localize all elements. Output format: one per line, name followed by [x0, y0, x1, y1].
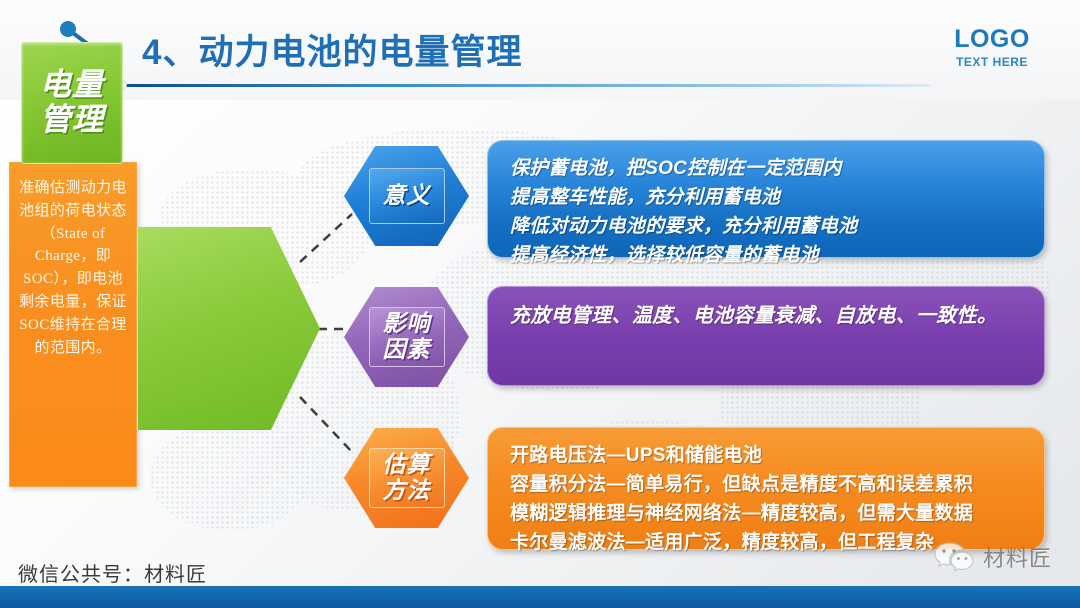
page-title: 4、动力电池的电量管理	[142, 24, 522, 75]
brand-logo-block: LOGO TEXT HERE	[932, 26, 1052, 69]
branch-hexagon-significance-inner: 意义	[369, 168, 445, 224]
content-box-methods: 开路电压法—UPS和储能电池 容量积分法—简单易行，但缺点是精度不高和误差累积 …	[487, 427, 1045, 550]
content-box-factors: 充放电管理、温度、电池容量衰减、自放电、一致性。	[487, 286, 1045, 386]
definition-panel: 准确估测动力电池组的荷电状态（State of Charge，即SOC），即电池…	[9, 162, 137, 487]
branch-label-significance: 意义	[383, 183, 431, 209]
brand-logo-text: LOGO	[932, 26, 1052, 52]
content-box-significance: 保护蓄电池，把SOC控制在一定范围内 提高整车性能，充分利用蓄电池 降低对动力电…	[487, 140, 1045, 258]
branch-hexagon-significance[interactable]: 意义	[344, 146, 469, 246]
watermark-text: 材料匠	[983, 541, 1052, 573]
title-underline	[120, 84, 930, 87]
slide-canvas: 4、动力电池的电量管理 LOGO TEXT HERE 准确估测动力电池组的荷电状…	[0, 0, 1080, 608]
center-node-line1: 电量	[40, 68, 104, 103]
content-line: 保护蓄电池，把SOC控制在一定范围内	[510, 155, 1024, 184]
footer-bar	[0, 586, 1080, 608]
branch-hexagon-factors[interactable]: 影响 因素	[344, 287, 469, 387]
content-line: 模糊逻辑推理与神经网络法—精度较高，但需大量数据	[510, 500, 1024, 529]
content-line: 充放电管理、温度、电池容量衰减、自放电、一致性。	[510, 301, 1024, 331]
content-line: 提高经济性，选择较低容量的蓄电池	[510, 242, 1024, 271]
branch-label-factors-line2: 因素	[383, 337, 431, 363]
center-node-shape	[138, 227, 320, 430]
slide-header: 4、动力电池的电量管理 LOGO TEXT HERE	[0, 0, 1080, 100]
center-node-line2: 管理	[40, 103, 104, 138]
brand-sub-text: TEXT HERE	[932, 55, 1052, 69]
footer-wechat-text: 微信公共号：材料匠	[18, 558, 207, 587]
watermark: 材料匠	[933, 540, 1052, 574]
content-line: 开路电压法—UPS和储能电池	[510, 442, 1024, 471]
branch-hexagon-methods-inner: 估算 方法	[369, 448, 445, 508]
branch-hexagon-methods[interactable]: 估算 方法	[344, 428, 469, 528]
content-line: 降低对动力电池的要求，充分利用蓄电池	[510, 213, 1024, 242]
content-line: 容量积分法—简单易行，但缺点是精度不高和误差累积	[510, 471, 1024, 500]
wechat-icon	[933, 540, 977, 574]
branch-label-methods-line1: 估算	[383, 452, 431, 478]
branch-label-factors-line1: 影响	[383, 311, 431, 337]
content-line: 提高整车性能，充分利用蓄电池	[510, 184, 1024, 213]
branch-label-methods-line2: 方法	[383, 478, 431, 504]
branch-hexagon-factors-inner: 影响 因素	[369, 307, 445, 367]
center-node-label: 电量 管理	[21, 42, 123, 164]
